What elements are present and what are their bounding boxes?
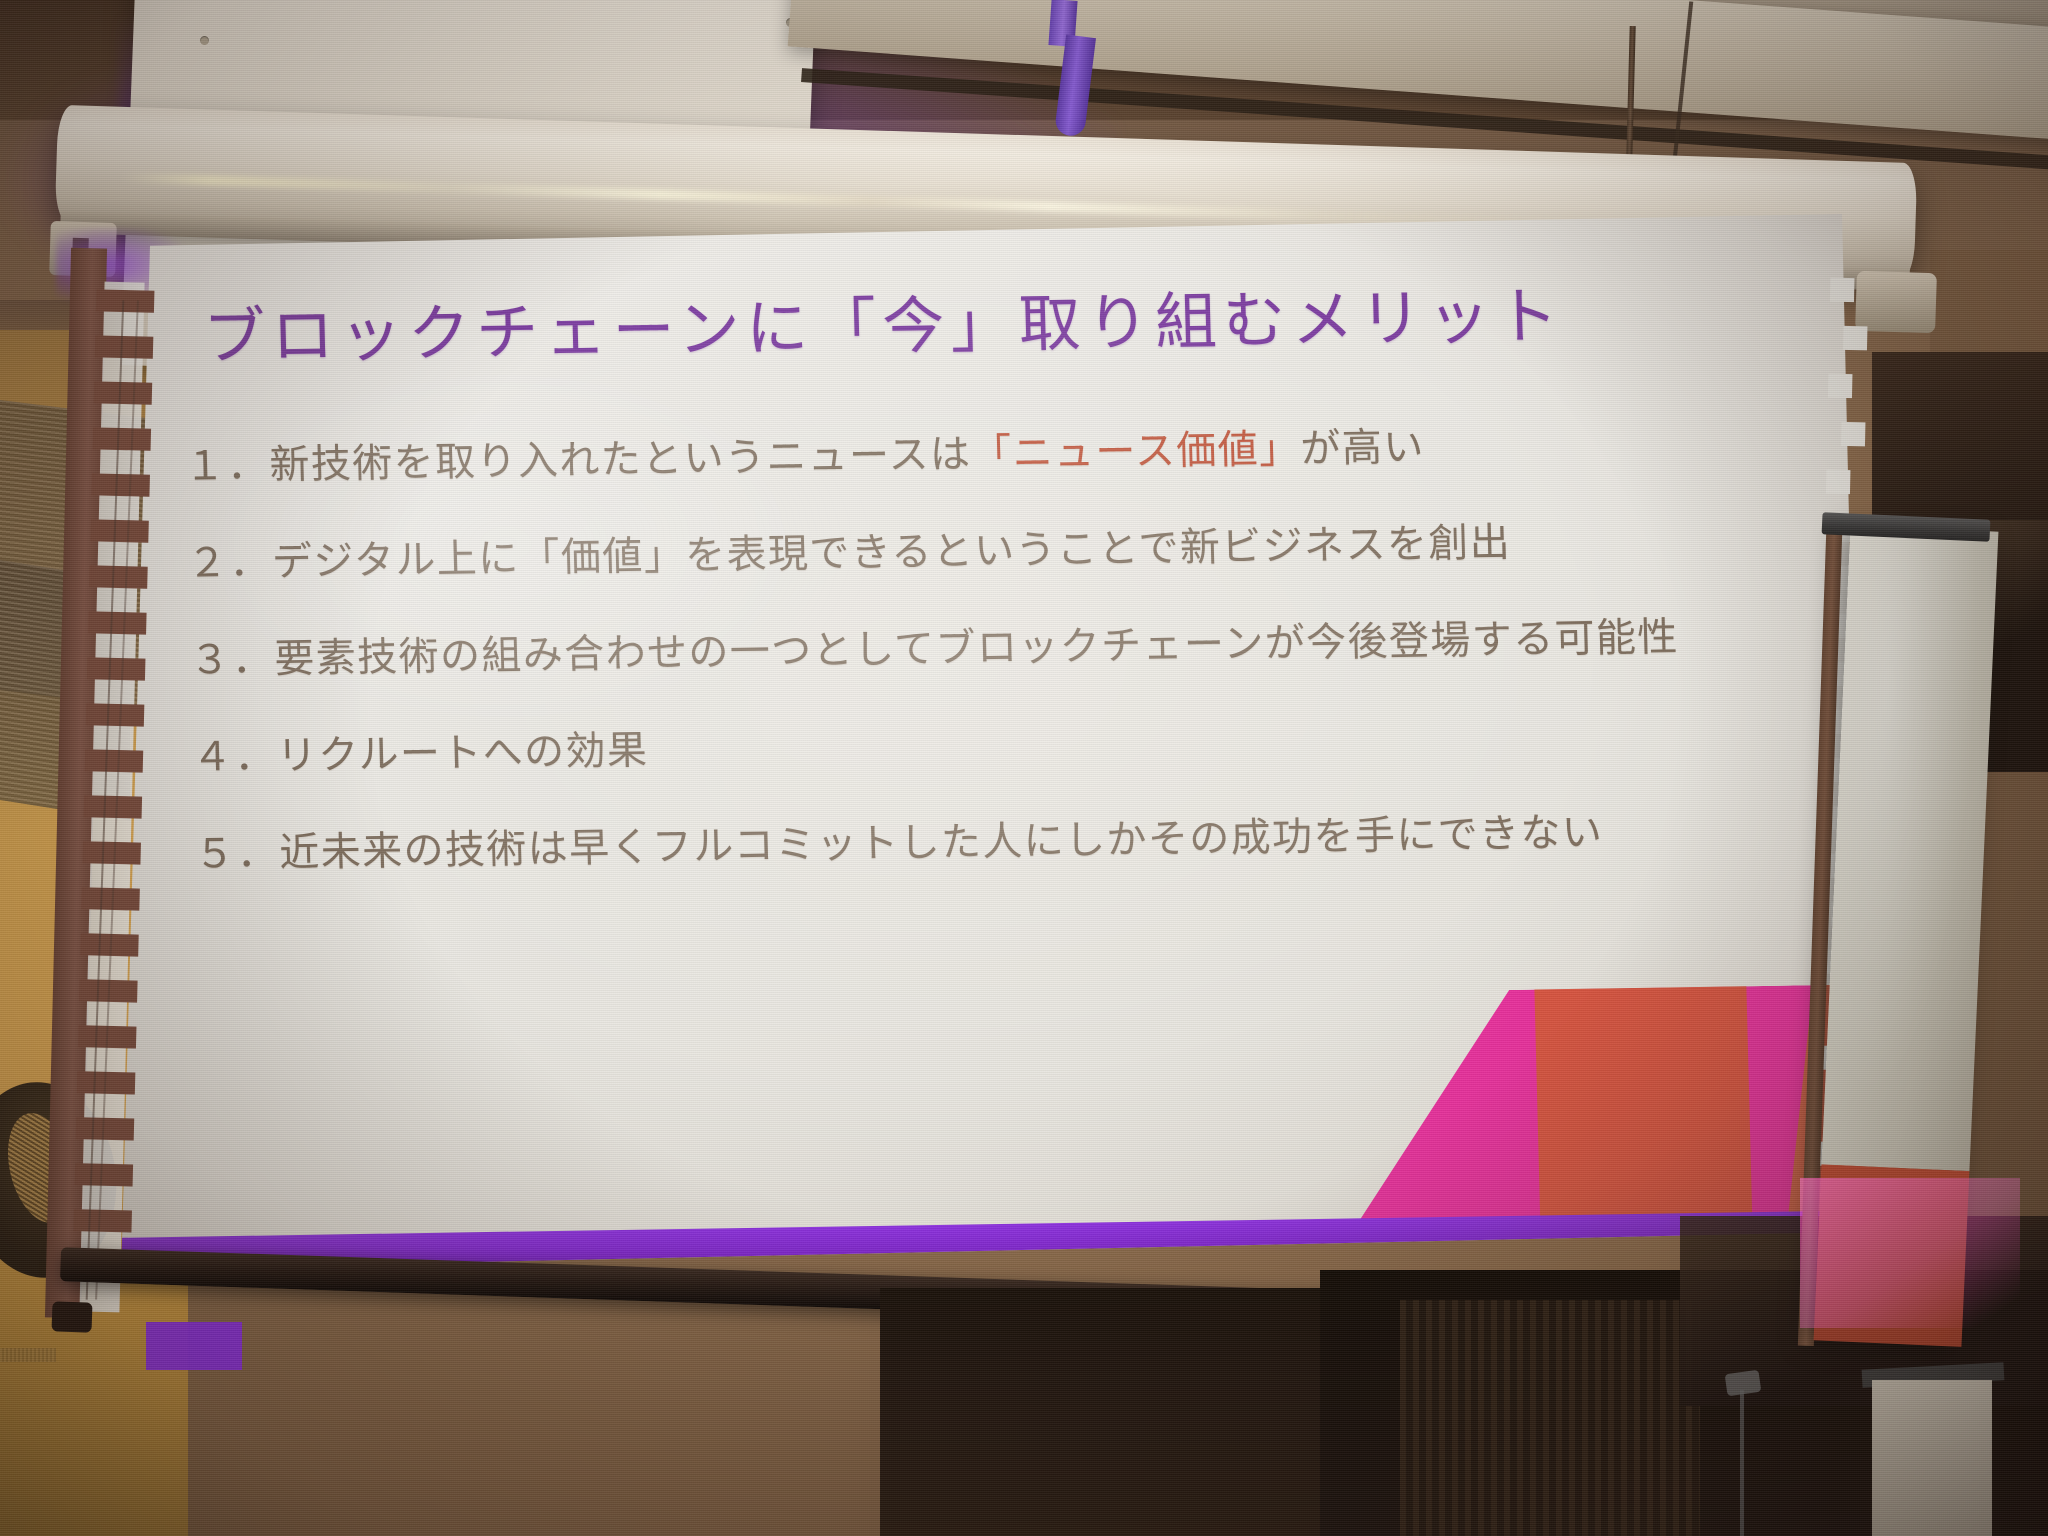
decoration-red-band — [1534, 986, 1752, 1219]
right-light-panel — [1872, 1380, 1992, 1536]
screen-edge-tooth — [1843, 326, 1867, 350]
banner-red-section — [1814, 1164, 1970, 1347]
bullet-number-2: ２． — [187, 539, 273, 585]
room-photo-scene: ブロックチェーンに「今」取り組むメリット １．新技術を取り入れたというニュースは… — [0, 0, 2048, 1536]
screen-edge-tooth — [1830, 278, 1854, 302]
bullet-text-5-pre: 近未来の技術は早くフルコミットした人にしかその成功を手にできない — [279, 809, 1604, 875]
bullet-number-5: ５． — [194, 830, 280, 876]
screen-edge-tooth — [96, 289, 155, 312]
projected-slide: ブロックチェーンに「今」取り組むメリット １．新技術を取り入れたというニュースは… — [96, 214, 1896, 1274]
screen-bottom-bar-endcap — [52, 1301, 93, 1332]
screen-edge-tooth — [75, 1163, 134, 1186]
bullet-item-2: ２．デジタル上に「価値」を表現できるということで新ビジネスを創出 — [187, 517, 1888, 584]
bullet-item-5: ５．近未来の技術は早くフルコミットした人にしかその成功を手にできない — [194, 808, 1895, 875]
screen-edge-tooth — [94, 381, 153, 404]
screen-edge-tooth — [84, 795, 143, 818]
screen-edge-tooth — [1826, 470, 1850, 494]
panel-screw — [200, 36, 209, 45]
wooden-slat-wall — [1400, 1300, 1700, 1536]
banner-sheen — [1822, 525, 1999, 1171]
screen-edge-tooth — [1841, 422, 1865, 446]
screen-edge-tooth — [85, 749, 144, 772]
screen-edge-tooth — [88, 611, 147, 634]
wall-label-strip — [0, 1348, 56, 1362]
bullet-text-2-pre: デジタル上に「価値」を表現できるということで新ビジネスを創出 — [271, 520, 1511, 584]
projection-screen: ブロックチェーンに「今」取り組むメリット １．新技術を取り入れたというニュースは… — [96, 214, 1896, 1314]
bullet-highlight-1: 「ニュース価値」 — [971, 426, 1301, 476]
slide-title: ブロックチェーンに「今」取り組むメリット — [203, 280, 1765, 373]
bullet-text-4-pre: リクルートへの効果 — [276, 727, 649, 778]
screen-edge-tooth — [91, 473, 150, 496]
bullet-item-1: １．新技術を取り入れたというニュースは「ニュース価値」が高い — [184, 420, 1885, 487]
screen-edge-tooth — [1828, 374, 1852, 398]
microphone-head — [1725, 1370, 1762, 1397]
slide-bullet-list: １．新技術を取り入れたというニュースは「ニュース価値」が高い ２．デジタル上に「… — [184, 420, 1896, 932]
screen-edge-tooth — [73, 1209, 132, 1232]
screen-edge-tooth — [95, 335, 154, 358]
bullet-text-3-pre: 要素技術の組み合わせの一つとしてブロックチェーンが今後登場する可能性 — [274, 614, 1679, 681]
screen-edge-tooth — [87, 657, 146, 680]
bullet-text-1-pre: 新技術を取り入れたというニュースは — [269, 431, 972, 487]
bullet-number-3: ３． — [189, 636, 275, 682]
screen-edge-tooth — [89, 565, 148, 588]
microphone-stand — [1740, 1390, 1744, 1536]
slide-content: ブロックチェーンに「今」取り組むメリット １．新技術を取り入れたというニュースは… — [83, 200, 1910, 1288]
bullet-number-1: １． — [184, 442, 270, 488]
bullet-item-4: ４．リクルートへの効果 — [192, 711, 1893, 778]
screen-edge-tooth — [93, 427, 152, 450]
bullet-item-3: ３．要素技術の組み合わせの一つとしてブロックチェーンが今後登場する可能性 — [189, 614, 1890, 681]
screen-edge-tooth — [82, 841, 141, 864]
purple-light-leak-bottom-left — [146, 1322, 242, 1370]
screen-edge-tooth — [86, 703, 145, 726]
bullet-text-1-post: が高い — [1300, 424, 1425, 471]
screen-edge-tooth — [90, 519, 149, 542]
screen-edge-tooth — [76, 1117, 135, 1140]
bullet-number-4: ４． — [192, 733, 278, 779]
